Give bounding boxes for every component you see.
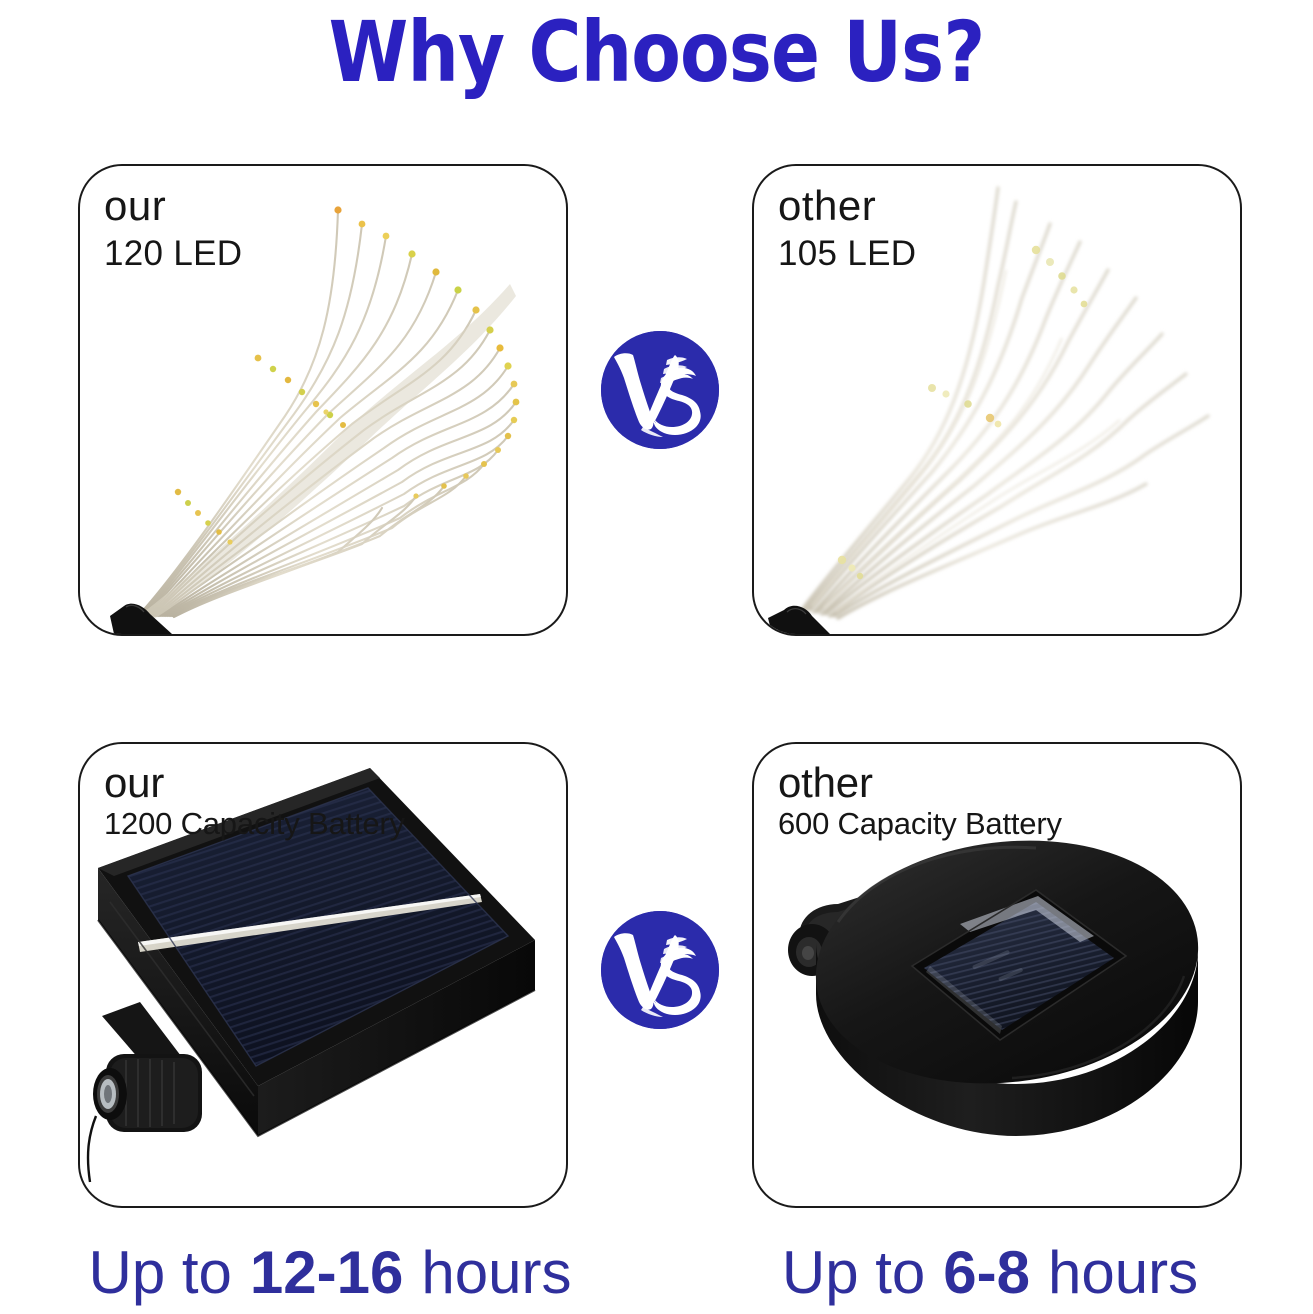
square-solar-panel-box-icon [80, 744, 566, 1206]
card-image-area-our-led [80, 166, 566, 634]
vs-badge-icon-top [601, 331, 719, 449]
caption-suffix: hours [421, 1237, 571, 1309]
caption-runtime-our: Up to 12-16 hours [20, 1232, 640, 1314]
comparison-card-other-led: other 105 LED [752, 164, 1242, 636]
caption-prefix: Up to [89, 1237, 232, 1309]
caption-suffix: hours [1048, 1237, 1198, 1309]
comparison-card-our-led: our 120 LED [78, 164, 568, 636]
page-title: Why Choose Us? [92, 4, 1221, 100]
round-solar-puck-icon [754, 744, 1240, 1206]
vs-badge-icon-bottom [601, 911, 719, 1029]
caption-prefix: Up to [782, 1237, 925, 1309]
comparison-card-other-battery: other 600 Capacity Battery [752, 742, 1242, 1208]
led-firework-string-lights-icon [80, 166, 566, 634]
caption-value: 6-8 [943, 1237, 1030, 1309]
caption-runtime-other: Up to 6-8 hours [680, 1232, 1300, 1314]
caption-value: 12-16 [250, 1237, 403, 1309]
card-image-area-other-led [754, 166, 1240, 634]
comparison-card-our-battery: our 1200 Capacity Battery [78, 742, 568, 1208]
card-image-area-our-battery [80, 744, 566, 1206]
card-image-area-other-battery [754, 744, 1240, 1206]
led-sparse-string-lights-icon [754, 166, 1240, 634]
